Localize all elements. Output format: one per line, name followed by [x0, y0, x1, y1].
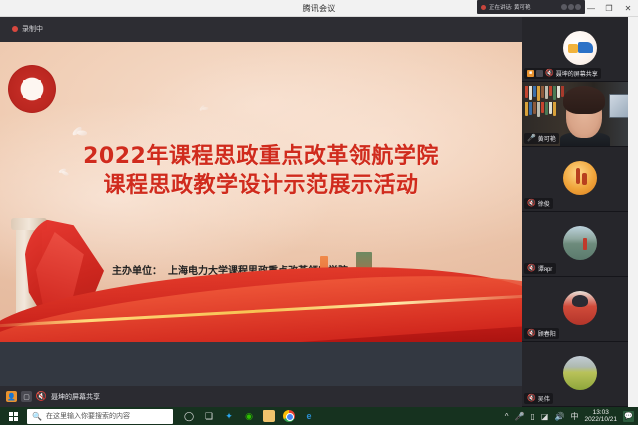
- user-icon: 👤: [6, 391, 17, 402]
- participant-name: 黄可艳: [538, 134, 556, 143]
- user-icon: ■: [527, 70, 534, 77]
- participant-sidebar[interactable]: ■ 🔇 聂坤的屏幕共享: [522, 17, 638, 407]
- participant-label: 🔇 谭ярг: [524, 263, 556, 274]
- avatar: [563, 356, 597, 390]
- cortana-icon[interactable]: ◯: [183, 410, 195, 422]
- meeting-window: 腾讯会议 — ❐ ✕ 正在讲话: 黄可艳 录制中: [0, 0, 638, 425]
- active-speaker-overlay[interactable]: 正在讲话: 黄可艳: [477, 0, 585, 14]
- window-title: 腾讯会议: [303, 3, 336, 14]
- participant-tile-3[interactable]: 🔇 谭ярг: [522, 212, 638, 277]
- participant-name: 聂坤的屏幕共享: [556, 69, 598, 78]
- participant-label: 🔇 徐俊: [524, 198, 553, 209]
- windows-logo-icon: [9, 412, 18, 421]
- taskbar-app-icons: ◯ ❏ ✦ ◉ e: [183, 410, 315, 422]
- share-footer-label: 聂坤的屏幕共享: [51, 392, 100, 402]
- participant-tile-5[interactable]: 🔇 吴伟: [522, 342, 638, 407]
- organizer-label: 主办单位：: [112, 264, 162, 280]
- show-hidden-icons-icon[interactable]: ^: [505, 412, 509, 421]
- participant-name: 顾春阳: [538, 329, 556, 338]
- windows-taskbar: 🔍 在这里输入你要搜索的内容 ◯ ❏ ✦ ◉ e ^ 🎤 ▯ ◪ 🔊 中 13:…: [0, 407, 638, 425]
- taskbar-clock[interactable]: 13:03 2022/10/21: [584, 409, 617, 424]
- avatar: [563, 291, 597, 325]
- person-hair: [563, 86, 605, 114]
- clock-time: 13:03: [584, 409, 617, 416]
- notification-icon[interactable]: 💬: [623, 411, 634, 422]
- participant-name: 徐俊: [538, 199, 550, 208]
- maximize-button[interactable]: ❐: [600, 0, 618, 17]
- mic-muted-icon: 🔇: [36, 391, 47, 402]
- avatar: [561, 4, 567, 10]
- university-logo-icon: [8, 65, 56, 113]
- slide-title-line-2: 课程思政教学设计示范展示活动: [0, 171, 522, 200]
- participant-tile-2[interactable]: 🔇 徐俊: [522, 147, 638, 212]
- ime-icon[interactable]: 中: [570, 411, 578, 422]
- avatar: [563, 161, 597, 195]
- bookshelf-graphic: [525, 86, 565, 138]
- record-dot-icon: [12, 26, 18, 32]
- participant-tile-0[interactable]: ■ 🔇 聂坤的屏幕共享: [522, 17, 638, 82]
- presentation-slide: 2022年课程思政重点改革领航学院 课程思政教学设计示范展示活动 主办单位： 上…: [0, 42, 522, 386]
- volume-icon[interactable]: 🔊: [554, 412, 564, 421]
- recording-indicator[interactable]: 录制中: [12, 24, 43, 34]
- battery-icon[interactable]: ▯: [531, 412, 535, 421]
- system-tray: ^ 🎤 ▯ ◪ 🔊 中 13:03 2022/10/21 💬: [505, 409, 638, 424]
- avatar: [563, 31, 597, 65]
- network-icon[interactable]: ◪: [541, 412, 549, 421]
- search-placeholder: 在这里输入你要搜索的内容: [46, 411, 130, 421]
- file-explorer-icon[interactable]: [263, 410, 275, 422]
- mic-muted-icon: 🔇: [527, 395, 536, 402]
- close-button[interactable]: ✕: [618, 0, 638, 17]
- window-controls: — ❐ ✕: [582, 0, 638, 17]
- chrome-icon[interactable]: [283, 410, 295, 422]
- task-view-icon[interactable]: ❏: [203, 410, 215, 422]
- meeting-toolbar: 录制中: [0, 17, 522, 42]
- avatar: [563, 226, 597, 260]
- slide-title: 2022年课程思政重点改革领航学院 课程思政教学设计示范展示活动: [0, 142, 522, 200]
- mic-muted-icon: 🔇: [527, 330, 536, 337]
- edge-icon[interactable]: e: [303, 410, 315, 422]
- window-titlebar: 腾讯会议 — ❐ ✕ 正在讲话: 黄可艳: [0, 0, 638, 17]
- participant-tile-1[interactable]: 🎤 黄可艳: [522, 82, 638, 147]
- shared-screen-area[interactable]: 2022年课程思政重点改革领航学院 课程思政教学设计示范展示活动 主办单位： 上…: [0, 42, 522, 386]
- participant-label: ■ 🔇 聂坤的屏幕共享: [524, 68, 601, 79]
- active-speaker-label: 正在讲话: 黄可艳: [489, 3, 531, 11]
- microphone-icon[interactable]: 🎤: [515, 412, 525, 421]
- slide-title-line-1: 2022年课程思政重点改革领航学院: [0, 142, 522, 171]
- participant-label: 🔇 顾春阳: [524, 328, 559, 339]
- mic-active-icon: 🎤: [527, 135, 536, 142]
- record-dot-icon: [481, 5, 486, 10]
- recording-label: 录制中: [22, 24, 43, 34]
- avatar: [568, 4, 574, 10]
- tim-icon[interactable]: ✦: [223, 410, 235, 422]
- window-right-edge: [628, 17, 638, 407]
- screen-share-icon: ▢: [21, 391, 32, 402]
- participant-label: 🔇 吴伟: [524, 393, 553, 404]
- mic-muted-icon: 🔇: [545, 70, 554, 77]
- mic-muted-icon: 🔇: [527, 200, 536, 207]
- participant-name: 吴伟: [538, 394, 550, 403]
- taskbar-search-input[interactable]: 🔍 在这里输入你要搜索的内容: [27, 409, 173, 424]
- wechat-icon[interactable]: ◉: [243, 410, 255, 422]
- search-icon: 🔍: [32, 412, 42, 421]
- participant-label: 🎤 黄可艳: [524, 133, 559, 144]
- overlay-avatars: [561, 4, 581, 10]
- clock-date: 2022/10/21: [584, 416, 617, 423]
- slide-bottom-bar: [0, 342, 522, 386]
- screen-share-icon: [536, 70, 543, 77]
- mic-muted-icon: 🔇: [527, 265, 536, 272]
- participant-tile-4[interactable]: 🔇 顾春阳: [522, 277, 638, 342]
- share-footer-bar: 👤 ▢ 🔇 聂坤的屏幕共享: [0, 386, 522, 407]
- avatar: [575, 4, 581, 10]
- participant-name: 谭ярг: [538, 264, 553, 273]
- start-button[interactable]: [0, 407, 26, 425]
